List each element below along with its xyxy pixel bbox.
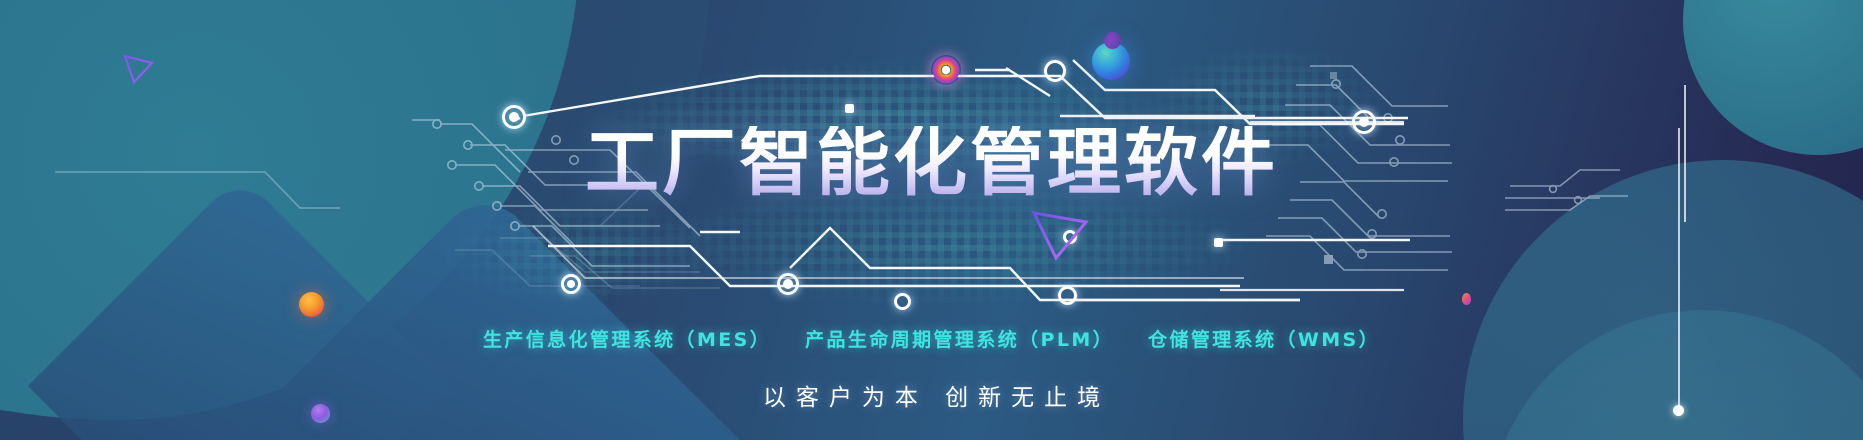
subtitle-item-mes: 生产信息化管理系统（MES） [483,325,771,352]
subtitle-item-wms: 仓储管理系统（WMS） [1148,325,1380,352]
tagline: 以客户为本 创新无止境 [0,378,1863,412]
banner-content: 工厂智能化管理软件 生产信息化管理系统（MES） 产品生命周期管理系统（PLM）… [0,0,1863,440]
banner-hero: 工厂智能化管理软件 生产信息化管理系统（MES） 产品生命周期管理系统（PLM）… [0,0,1863,440]
subtitle-item-plm: 产品生命周期管理系统（PLM） [805,325,1114,352]
subtitle-list: 生产信息化管理系统（MES） 产品生命周期管理系统（PLM） 仓储管理系统（WM… [0,325,1863,352]
page-title: 工厂智能化管理软件 [0,126,1863,200]
